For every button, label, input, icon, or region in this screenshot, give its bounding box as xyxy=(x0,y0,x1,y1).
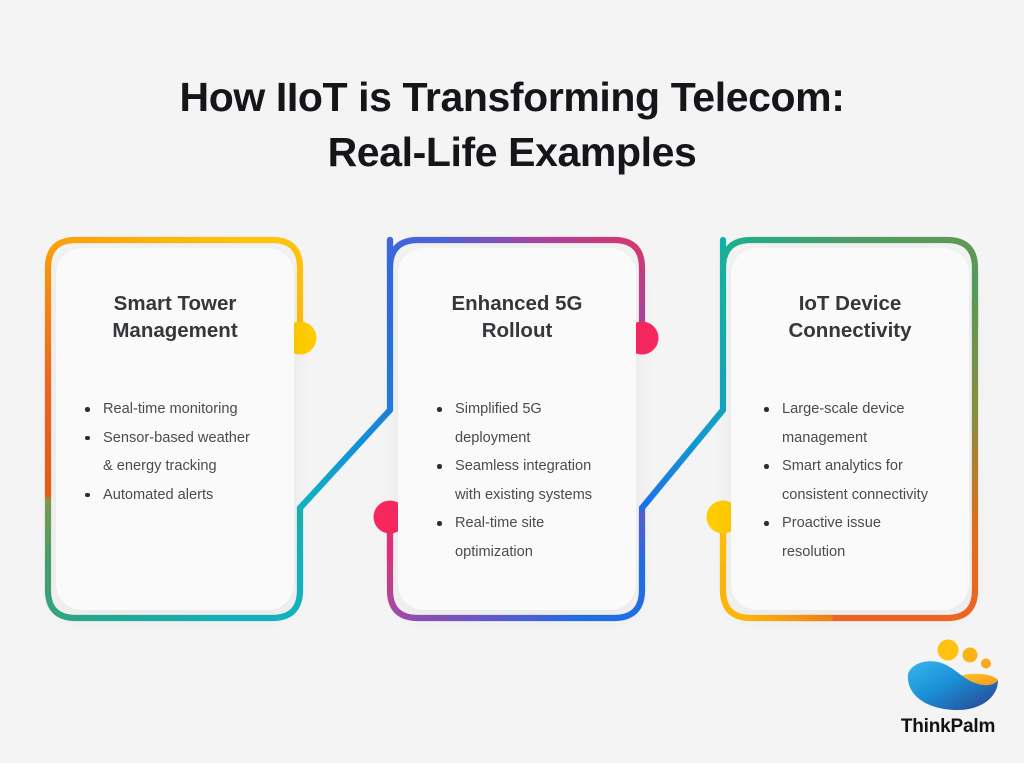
logo-wordmark: ThinkPalm xyxy=(886,716,1010,738)
title-line-2: Real-Life Examples xyxy=(0,125,1024,180)
page-title: How IIoT is Transforming Telecom: Real-L… xyxy=(0,70,1024,179)
thinkpalm-logo: ThinkPalm xyxy=(886,638,1010,744)
card3-bullet-list: Large-scale device management Smart anal… xyxy=(763,396,967,567)
card-enhanced-5g-rollout[interactable]: Enhanced 5G Rollout Simplified 5G deploy… xyxy=(398,248,636,610)
connector-card1-card2 xyxy=(300,240,390,508)
card1-heading-line-2: Management xyxy=(68,317,282,344)
list-item: Simplified 5G xyxy=(436,396,628,423)
card-smart-tower-management[interactable]: Smart Tower Management Real-time monitor… xyxy=(56,248,294,610)
infographic-canvas: How IIoT is Transforming Telecom: Real-L… xyxy=(0,0,1024,763)
logo-blue-swoosh xyxy=(908,661,998,710)
card2-heading-line-2: Rollout xyxy=(410,317,624,344)
card1-heading: Smart Tower Management xyxy=(56,290,294,345)
list-item-continuation: & energy tracking xyxy=(84,453,280,480)
card1-bullet-list: Real-time monitoring Sensor-based weathe… xyxy=(84,396,280,510)
list-item-continuation: deployment xyxy=(436,425,628,452)
list-item: Smart analytics for xyxy=(763,453,967,480)
list-item-continuation: with existing systems xyxy=(436,482,628,509)
card3-heading-line-1: IoT Device xyxy=(743,290,957,317)
list-item: Proactive issue xyxy=(763,510,967,537)
card2-heading-line-1: Enhanced 5G xyxy=(410,290,624,317)
card3-heading: IoT Device Connectivity xyxy=(731,290,969,345)
list-item: Real-time monitoring xyxy=(84,396,280,423)
logo-dot-medium xyxy=(963,648,978,663)
card2-heading: Enhanced 5G Rollout xyxy=(398,290,636,345)
list-item-continuation: optimization xyxy=(436,539,628,566)
logo-dot-small xyxy=(981,659,991,669)
list-item: Real-time site xyxy=(436,510,628,537)
list-item: Automated alerts xyxy=(84,482,280,509)
list-item: Sensor-based weather xyxy=(84,425,280,452)
card-iot-device-connectivity[interactable]: IoT Device Connectivity Large-scale devi… xyxy=(731,248,969,610)
list-item-continuation: resolution xyxy=(763,539,967,566)
list-item-continuation: management xyxy=(763,425,967,452)
connector-card2-card3 xyxy=(642,240,723,508)
list-item-continuation: consistent connectivity xyxy=(763,482,967,509)
card1-heading-line-1: Smart Tower xyxy=(68,290,282,317)
title-line-1: How IIoT is Transforming Telecom: xyxy=(0,70,1024,125)
list-item: Seamless integration xyxy=(436,453,628,480)
card2-bullet-list: Simplified 5G deployment Seamless integr… xyxy=(436,396,628,567)
list-item: Large-scale device xyxy=(763,396,967,423)
card3-heading-line-2: Connectivity xyxy=(743,317,957,344)
logo-dot-large xyxy=(938,640,959,661)
thinkpalm-logo-mark xyxy=(886,638,1010,716)
